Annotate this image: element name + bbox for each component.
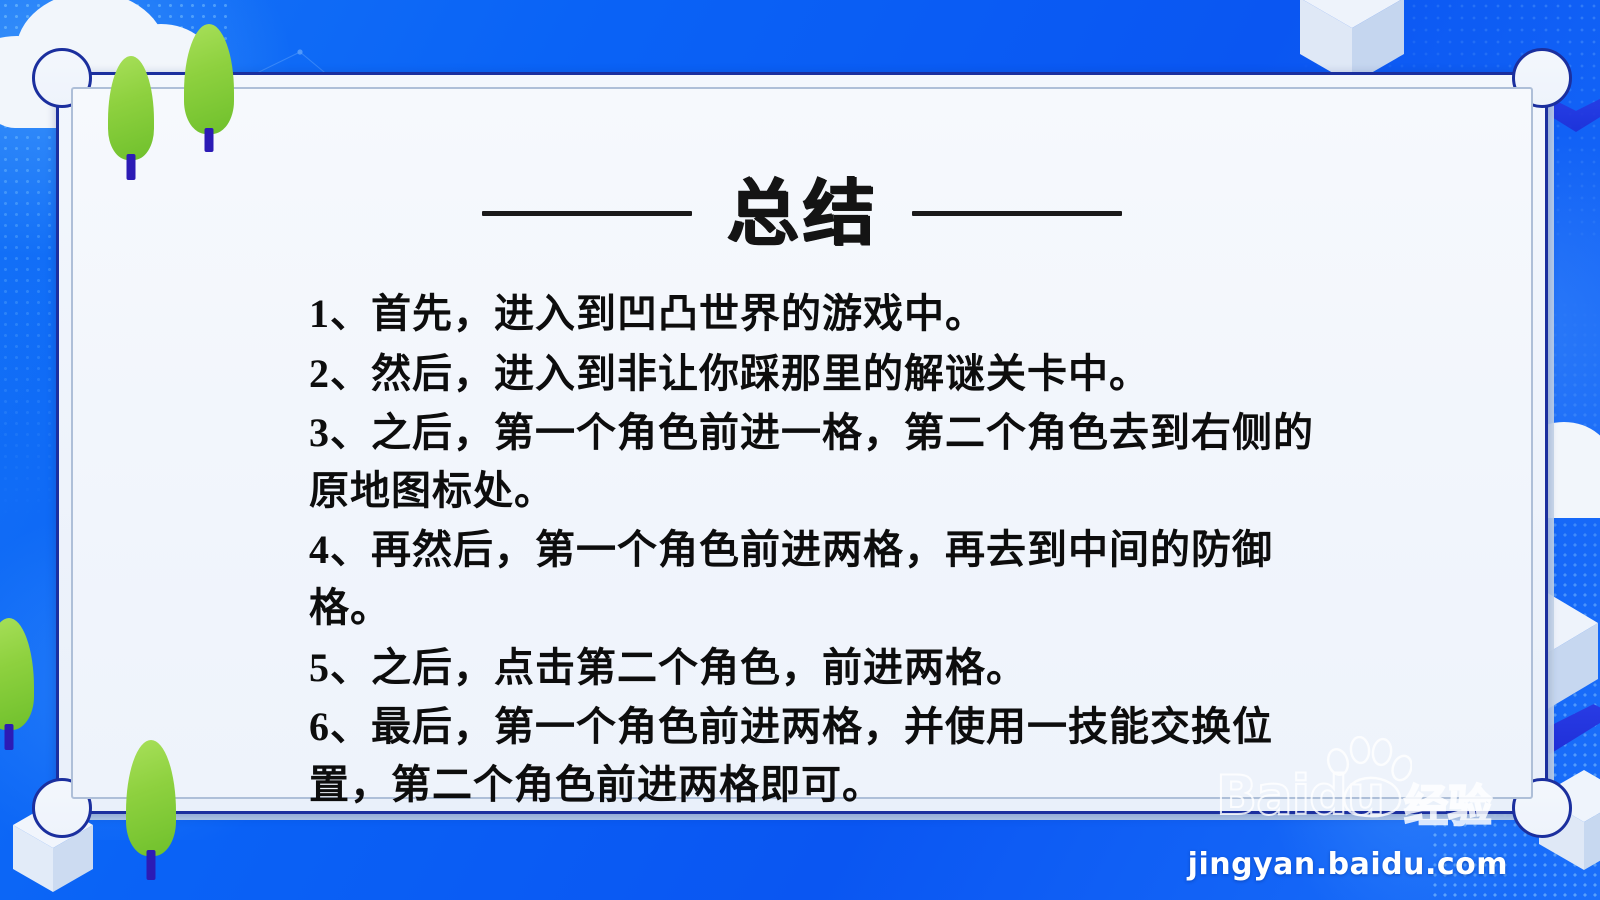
step-item-5: 5、之后，点击第二个角色，前进两格。: [309, 639, 1339, 697]
steps-list: 1、首先，进入到凹凸世界的游戏中。 2、然后，进入到非让你踩那里的解谜关卡中。 …: [309, 285, 1339, 815]
card-outer-border: 总结 1、首先，进入到凹凸世界的游戏中。 2、然后，进入到非让你踩那里的解谜关卡…: [56, 72, 1548, 814]
step-item-2: 2、然后，进入到非让你踩那里的解谜关卡中。: [309, 345, 1339, 403]
title-rule-left: [482, 211, 692, 216]
content-card: 总结 1、首先，进入到凹凸世界的游戏中。 2、然后，进入到非让你踩那里的解谜关卡…: [56, 72, 1548, 814]
baidu-paw-icon: [1320, 736, 1412, 820]
step-item-1: 1、首先，进入到凹凸世界的游戏中。: [309, 285, 1339, 343]
tree-bottom-left-1-icon: [0, 618, 34, 748]
page-title: 总结: [726, 177, 878, 249]
step-item-6: 6、最后，第一个角色前进两格，并使用一技能交换位置，第二个角色前进两格即可。: [309, 698, 1339, 813]
watermark: Baidu 经验: [1216, 754, 1516, 838]
tree-top-left-1-icon: [108, 56, 154, 176]
watermark-url: jingyan.baidu.com: [1188, 847, 1508, 882]
title-row: 总结: [73, 177, 1531, 249]
card-inner-border: 总结 1、首先，进入到凹凸世界的游戏中。 2、然后，进入到非让你踩那里的解谜关卡…: [71, 87, 1533, 799]
tree-top-left-2-icon: [184, 24, 234, 150]
title-rule-right: [912, 211, 1122, 216]
tree-bottom-left-2-icon: [126, 740, 176, 880]
step-item-3: 3、之后，第一个角色前进一格，第二个角色去到右侧的原地图标处。: [309, 404, 1339, 519]
watermark-brand-cn: 经验: [1404, 770, 1492, 834]
slide-canvas: 总结 1、首先，进入到凹凸世界的游戏中。 2、然后，进入到非让你踩那里的解谜关卡…: [0, 0, 1600, 900]
step-item-4: 4、再然后，第一个角色前进两格，再去到中间的防御格。: [309, 521, 1339, 636]
